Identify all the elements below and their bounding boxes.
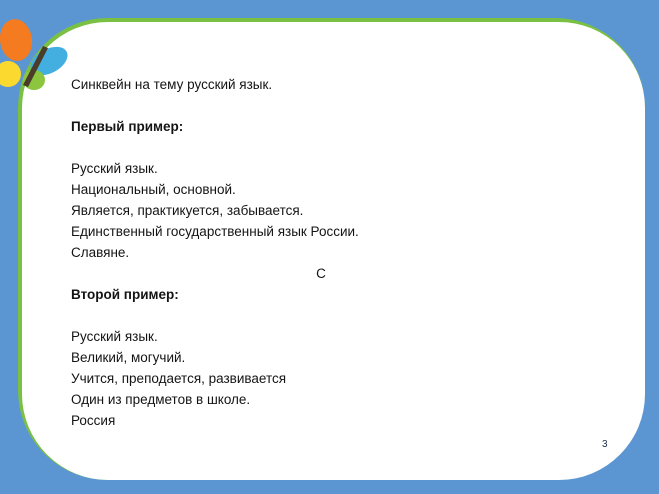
text-line: Русский язык. xyxy=(71,326,591,347)
text-line: Синквейн на тему русский язык. xyxy=(71,74,591,95)
text-line: Славяне. xyxy=(71,242,591,263)
text-line: Великий, могучий. xyxy=(71,347,591,368)
yellow-petal xyxy=(0,61,21,87)
slide-canvas: Синквейн на тему русский язык. Первый пр… xyxy=(0,0,659,494)
orange-petal xyxy=(0,18,35,63)
text-line-blank xyxy=(71,95,591,116)
text-line-blank xyxy=(71,305,591,326)
text-line-heading-second: Второй пример: xyxy=(71,284,591,305)
text-line: Единственный государственный язык России… xyxy=(71,221,591,242)
page-number: 3 xyxy=(602,439,608,450)
text-line: Национальный, основной. xyxy=(71,179,591,200)
slide-text-block: Синквейн на тему русский язык. Первый пр… xyxy=(71,74,591,431)
text-line: Россия xyxy=(71,410,591,431)
text-line: Является, практикуется, забывается. xyxy=(71,200,591,221)
text-line: Учится, преподается, развивается xyxy=(71,368,591,389)
text-line-centered: С xyxy=(71,263,571,284)
text-line: Один из предметов в школе. xyxy=(71,389,591,410)
text-line: Русский язык. xyxy=(71,158,591,179)
text-line-heading-first: Первый пример: xyxy=(71,116,591,137)
text-line-blank xyxy=(71,137,591,158)
